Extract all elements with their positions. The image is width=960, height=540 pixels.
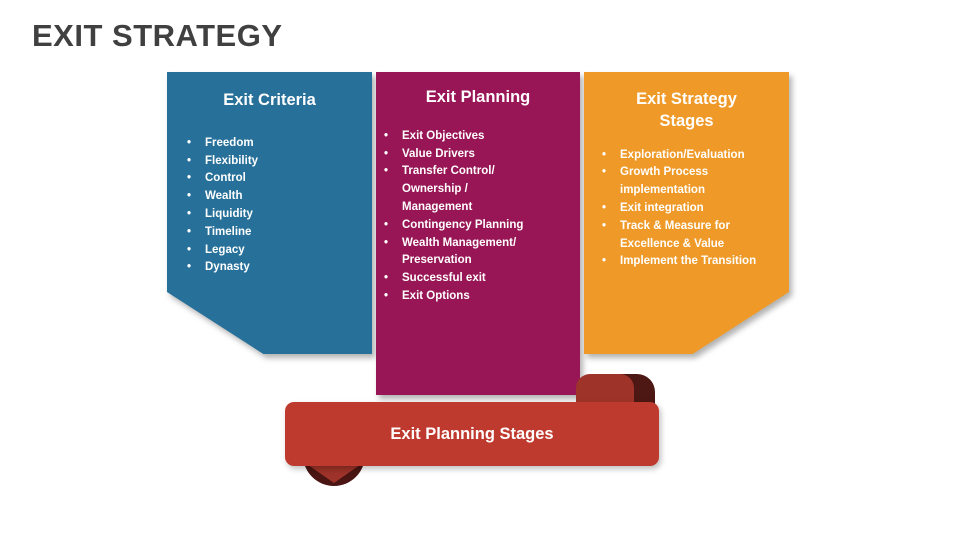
list-item-label: Implement the Transition bbox=[620, 255, 756, 267]
list-item-label: Wealth bbox=[205, 190, 243, 202]
list-item: •Timeline bbox=[179, 224, 372, 242]
list-item-label: Flexibility bbox=[205, 155, 258, 167]
bullet-list-exit-strategy-stages: •Exploration/Evaluation •Growth Process … bbox=[584, 147, 789, 272]
list-item: •Flexibility bbox=[179, 153, 372, 171]
bullet-icon: • bbox=[384, 235, 388, 253]
banner-content-exit-criteria: Exit Criteria •Freedom •Flexibility •Con… bbox=[167, 90, 372, 277]
bullet-icon: • bbox=[187, 170, 191, 188]
bullet-icon: • bbox=[384, 128, 388, 146]
list-item-label: Exit Options bbox=[402, 290, 470, 302]
bullet-icon: • bbox=[384, 163, 388, 181]
banner-exit-planning[interactable]: Exit Planning •Exit Objectives •Value Dr… bbox=[376, 72, 580, 395]
bullet-icon: • bbox=[602, 253, 606, 271]
list-item: •Value Drivers bbox=[376, 146, 580, 164]
list-item: •Wealth bbox=[179, 188, 372, 206]
bullet-list-exit-criteria: •Freedom •Flexibility •Control •Wealth •… bbox=[167, 135, 372, 278]
bullet-icon: • bbox=[187, 135, 191, 153]
banner-content-exit-strategy-stages: Exit Strategy Stages •Exploration/Evalua… bbox=[584, 89, 789, 271]
list-item-label: Exit integration bbox=[620, 202, 704, 214]
bullet-list-exit-planning: •Exit Objectives •Value Drivers •Transfe… bbox=[376, 128, 580, 306]
list-item-label: Wealth Management/ bbox=[402, 237, 516, 249]
list-item: •Dynasty bbox=[179, 259, 372, 277]
bullet-icon: • bbox=[187, 242, 191, 260]
list-item-continuation: implementation bbox=[594, 182, 789, 200]
list-item-label: Value Drivers bbox=[402, 148, 475, 160]
list-item: •Freedom bbox=[179, 135, 372, 153]
list-item: •Growth Process bbox=[594, 164, 789, 182]
list-item-label: Growth Process bbox=[620, 166, 708, 178]
ribbon-exit-planning-stages[interactable]: Exit Planning Stages bbox=[285, 394, 659, 466]
bullet-icon: • bbox=[384, 270, 388, 288]
list-item-label: Track & Measure for bbox=[620, 220, 730, 232]
list-item-continuation: Management bbox=[376, 199, 580, 217]
banner-title-exit-strategy-stages: Exit Strategy Stages bbox=[584, 89, 789, 133]
slide-canvas: EXIT STRATEGY Exit Criteria •Freedom •Fl… bbox=[0, 0, 960, 540]
list-item-label: Transfer Control/ bbox=[402, 165, 495, 177]
list-item-label: Successful exit bbox=[402, 272, 486, 284]
list-item-label: implementation bbox=[620, 184, 705, 196]
bullet-icon: • bbox=[187, 206, 191, 224]
list-item: •Exploration/Evaluation bbox=[594, 147, 789, 165]
list-item-label: Exit Objectives bbox=[402, 130, 484, 142]
list-item: •Exit Objectives bbox=[376, 128, 580, 146]
banner-title-line-1: Exit Strategy bbox=[584, 89, 789, 111]
list-item-label: Control bbox=[205, 172, 246, 184]
bullet-icon: • bbox=[187, 259, 191, 277]
ribbon-body bbox=[285, 402, 659, 466]
page-title: EXIT STRATEGY bbox=[32, 18, 283, 54]
list-item-continuation: Preservation bbox=[376, 252, 580, 270]
list-item-label: Exploration/Evaluation bbox=[620, 149, 745, 161]
bullet-icon: • bbox=[384, 288, 388, 306]
list-item: •Implement the Transition bbox=[594, 253, 789, 271]
list-item: •Successful exit bbox=[376, 270, 580, 288]
bullet-icon: • bbox=[602, 200, 606, 218]
list-item-label: Contingency Planning bbox=[402, 219, 523, 231]
list-item: •Transfer Control/ bbox=[376, 163, 580, 181]
bullet-icon: • bbox=[187, 153, 191, 171]
list-item: •Wealth Management/ bbox=[376, 235, 580, 253]
bullet-icon: • bbox=[187, 224, 191, 242]
bullet-icon: • bbox=[187, 188, 191, 206]
list-item-continuation: Ownership / bbox=[376, 181, 580, 199]
list-item-label: Freedom bbox=[205, 137, 254, 149]
bullet-icon: • bbox=[384, 217, 388, 235]
banner-exit-criteria[interactable]: Exit Criteria •Freedom •Flexibility •Con… bbox=[167, 72, 372, 354]
list-item-label: Dynasty bbox=[205, 261, 250, 273]
list-item: •Contingency Planning bbox=[376, 217, 580, 235]
list-item-label: Management bbox=[402, 201, 472, 213]
list-item-label: Legacy bbox=[205, 244, 245, 256]
list-item-continuation: Excellence & Value bbox=[594, 236, 789, 254]
bullet-icon: • bbox=[602, 218, 606, 236]
list-item: •Control bbox=[179, 170, 372, 188]
banner-exit-strategy-stages[interactable]: Exit Strategy Stages •Exploration/Evalua… bbox=[584, 72, 789, 354]
banner-content-exit-planning: Exit Planning •Exit Objectives •Value Dr… bbox=[376, 87, 580, 306]
bullet-icon: • bbox=[602, 147, 606, 165]
list-item: •Track & Measure for bbox=[594, 218, 789, 236]
list-item: •Legacy bbox=[179, 242, 372, 260]
bullet-icon: • bbox=[384, 146, 388, 164]
list-item-label: Timeline bbox=[205, 226, 251, 238]
list-item: •Liquidity bbox=[179, 206, 372, 224]
list-item: •Exit Options bbox=[376, 288, 580, 306]
banner-title-exit-criteria: Exit Criteria bbox=[167, 90, 372, 112]
list-item-label: Ownership / bbox=[402, 183, 468, 195]
list-item: •Exit integration bbox=[594, 200, 789, 218]
banner-title-line-2: Stages bbox=[584, 111, 789, 133]
list-item-label: Excellence & Value bbox=[620, 238, 724, 250]
list-item-label: Preservation bbox=[402, 254, 472, 266]
banner-title-exit-planning: Exit Planning bbox=[376, 87, 580, 109]
list-item-label: Liquidity bbox=[205, 208, 253, 220]
bullet-icon: • bbox=[602, 164, 606, 182]
